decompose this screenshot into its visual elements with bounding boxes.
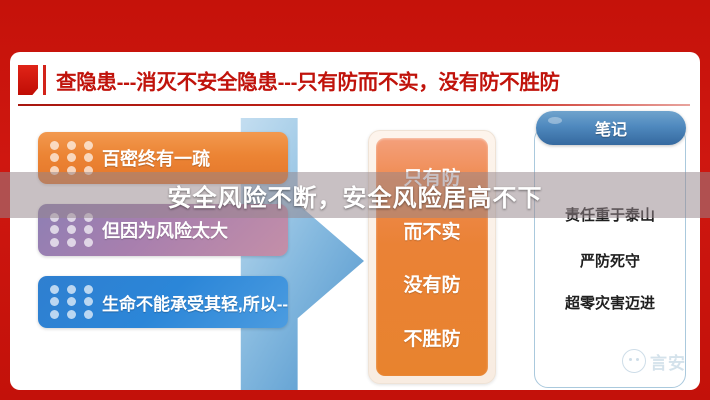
slide-background: 查隐患---消灭不安全隐患---只有防而不实，没有防不胜防 百密终有一疏 但因为…: [0, 0, 710, 400]
note-item-3: 超零灾害迈进: [534, 292, 686, 313]
center-line-3: 没有防: [403, 270, 460, 297]
center-line-4: 不胜防: [403, 324, 460, 351]
dot-grid-icon: [50, 141, 98, 175]
left-item-1-label: 百密终有一疏: [102, 145, 210, 171]
red-flag-icon: [18, 65, 38, 95]
notes-header-button[interactable]: 笔记: [536, 111, 686, 145]
left-item-3-label: 生命不能承受其轻,所以--: [102, 290, 288, 315]
overlay-caption: 安全风险不断，安全风险居高不下: [0, 172, 710, 218]
title-underline: [18, 104, 690, 106]
content-card: 查隐患---消灭不安全隐患---只有防而不实，没有防不胜防 百密终有一疏 但因为…: [10, 52, 700, 390]
left-item-3[interactable]: 生命不能承受其轻,所以--: [38, 276, 288, 328]
slide-title-row: 查隐患---消灭不安全隐患---只有防而不实，没有防不胜防: [10, 56, 700, 104]
notes-header-label: 笔记: [595, 116, 627, 140]
note-item-2: 严防死守: [534, 250, 686, 271]
center-line-2: 而不实: [403, 217, 460, 244]
title-divider: [43, 65, 46, 95]
dot-grid-icon: [50, 285, 98, 319]
left-item-2-label: 但因为风险太大: [102, 217, 228, 243]
dot-grid-icon: [50, 213, 98, 247]
page-title: 查隐患---消灭不安全隐患---只有防而不实，没有防不胜防: [56, 65, 560, 95]
watermark-text: 言安: [650, 349, 686, 374]
smiley-face-icon: [622, 349, 646, 373]
watermark: 言安: [590, 344, 686, 378]
